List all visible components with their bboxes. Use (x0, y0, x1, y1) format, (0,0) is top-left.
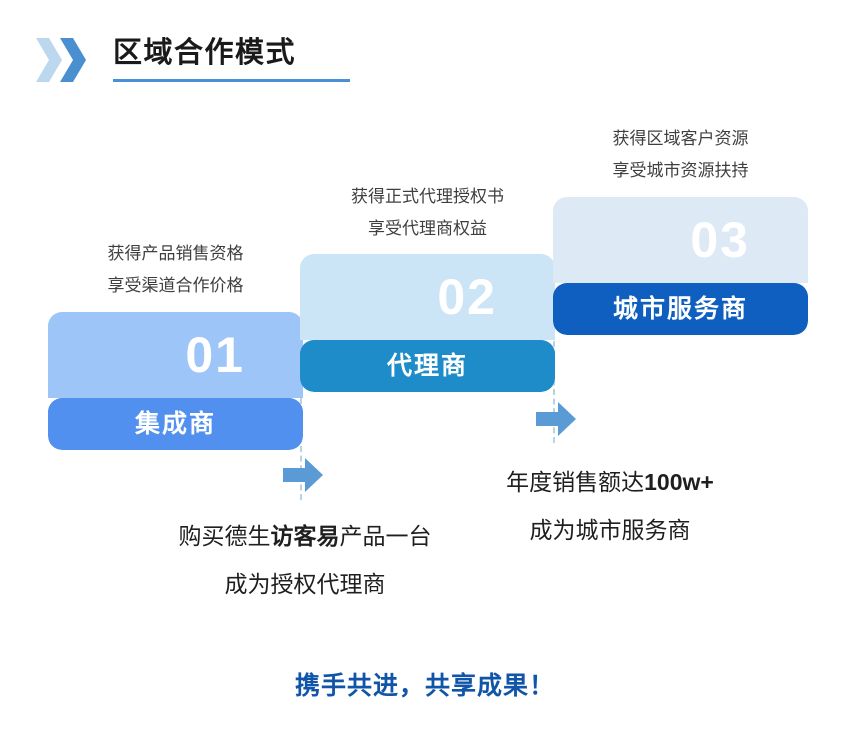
tier-caption-1-line-1: 获得产品销售资格 (48, 238, 303, 270)
tier-diagram: 获得产品销售资格 享受渠道合作价格 获得正式代理授权书 享受代理商权益 获得区域… (0, 0, 850, 620)
footer-slogan: 携手共进，共享成果！ (0, 668, 850, 704)
tier-caption-2: 获得正式代理授权书 享受代理商权益 (300, 181, 555, 245)
tier-number-1: 01 (185, 330, 245, 380)
tier-caption-1: 获得产品销售资格 享受渠道合作价格 (48, 238, 303, 302)
tier-requirement-2-line-1: 年度销售额达100w+ (425, 458, 795, 506)
tier-card-1-top: 01 (48, 312, 303, 398)
req-1-strong: 访客易 (271, 523, 340, 549)
tier-requirement-1-line-2: 成为授权代理商 (125, 560, 485, 608)
tier-card-agent[interactable]: 02 代理商 (300, 254, 555, 392)
tier-card-3-bottom: 城市服务商 (553, 283, 808, 335)
req-1-suffix: 产品一台 (340, 523, 432, 549)
tier-card-integrator[interactable]: 01 集成商 (48, 312, 303, 450)
tier-number-2: 02 (437, 272, 497, 322)
tier-number-3: 03 (690, 215, 750, 265)
tier-caption-3-line-1: 获得区域客户资源 (553, 123, 808, 155)
tier-caption-3: 获得区域客户资源 享受城市资源扶持 (553, 123, 808, 187)
arrow-right-icon-2 (536, 402, 576, 436)
tier-caption-2-line-1: 获得正式代理授权书 (300, 181, 555, 213)
tier-label-2: 代理商 (387, 354, 468, 379)
tier-label-3: 城市服务商 (613, 297, 748, 322)
arrow-right-icon-1 (283, 458, 323, 492)
tier-requirement-2-line-2: 成为城市服务商 (425, 506, 795, 554)
tier-card-2-bottom: 代理商 (300, 340, 555, 392)
tier-card-city-service-provider[interactable]: 03 城市服务商 (553, 197, 808, 335)
tier-caption-2-line-2: 享受代理商权益 (300, 213, 555, 245)
tier-label-1: 集成商 (135, 412, 216, 437)
tier-requirement-2: 年度销售额达100w+ 成为城市服务商 (425, 458, 795, 554)
req-2-strong: 100w+ (644, 469, 714, 495)
tier-card-3-top: 03 (553, 197, 808, 283)
tier-caption-1-line-2: 享受渠道合作价格 (48, 270, 303, 302)
req-2-prefix: 年度销售额达 (506, 469, 644, 495)
req-1-prefix: 购买德生 (179, 523, 271, 549)
tier-caption-3-line-2: 享受城市资源扶持 (553, 155, 808, 187)
tier-card-1-bottom: 集成商 (48, 398, 303, 450)
tier-card-2-top: 02 (300, 254, 555, 340)
